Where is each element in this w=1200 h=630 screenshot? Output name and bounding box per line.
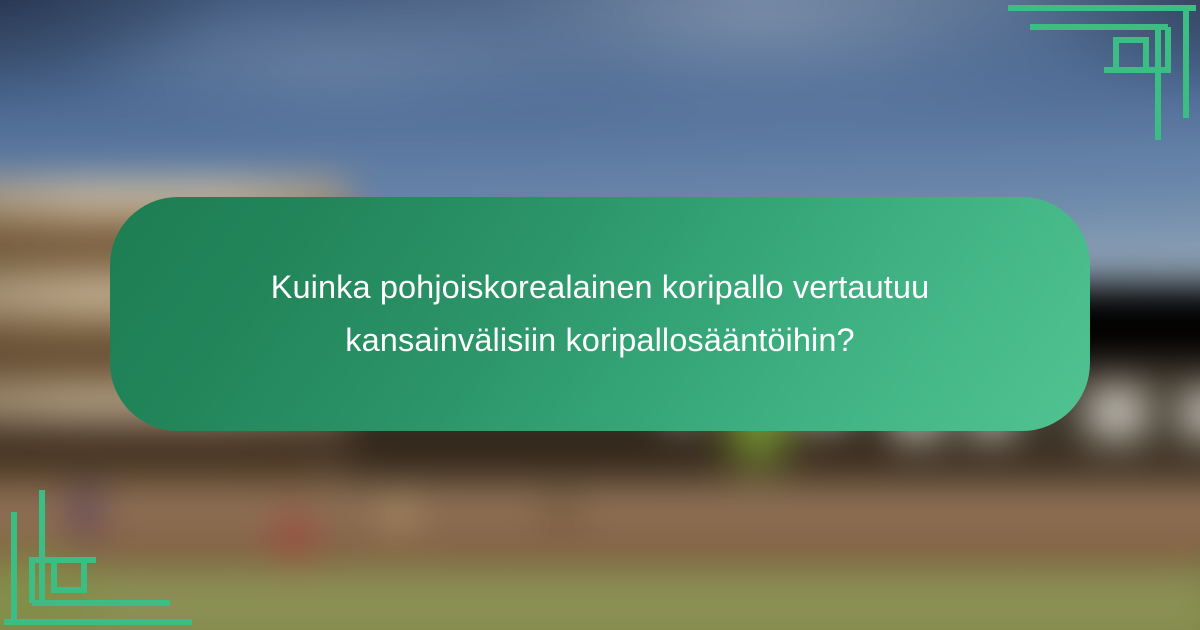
headline-card: Kuinka pohjoiskorealainen koripallo vert…	[110, 197, 1090, 431]
corner-ornament-bottom-left	[0, 482, 200, 630]
share-card-canvas: Kuinka pohjoiskorealainen koripallo vert…	[0, 0, 1200, 630]
corner-ornament-bottom-left-icon	[0, 482, 200, 630]
headline-text: Kuinka pohjoiskorealainen koripallo vert…	[200, 261, 1000, 367]
corner-ornament-top-right	[1000, 0, 1200, 148]
corner-ornament-top-right-icon	[1000, 0, 1200, 148]
